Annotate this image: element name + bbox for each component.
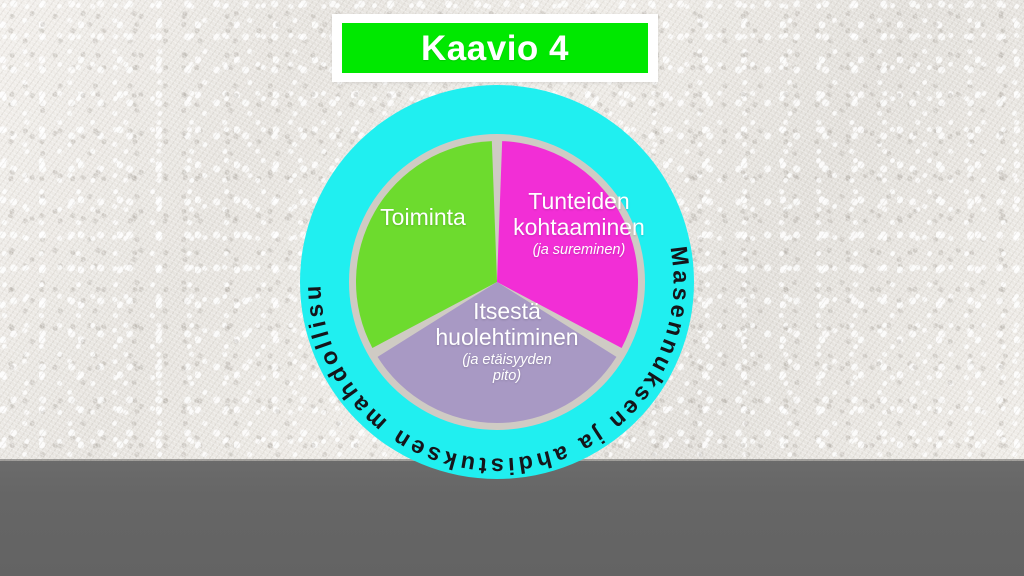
title-plate: Kaavio 4 (332, 14, 658, 82)
slide-canvas: Kaavio 4 Masennuksen ja ahdistuksen mahd… (0, 0, 1024, 576)
wheel-svg: Masennuksen ja ahdistuksen mahdollisuus (299, 84, 695, 480)
title-banner: Kaavio 4 (342, 23, 648, 73)
page-title: Kaavio 4 (421, 31, 569, 66)
wheel-diagram: Masennuksen ja ahdistuksen mahdollisuus … (299, 84, 695, 480)
